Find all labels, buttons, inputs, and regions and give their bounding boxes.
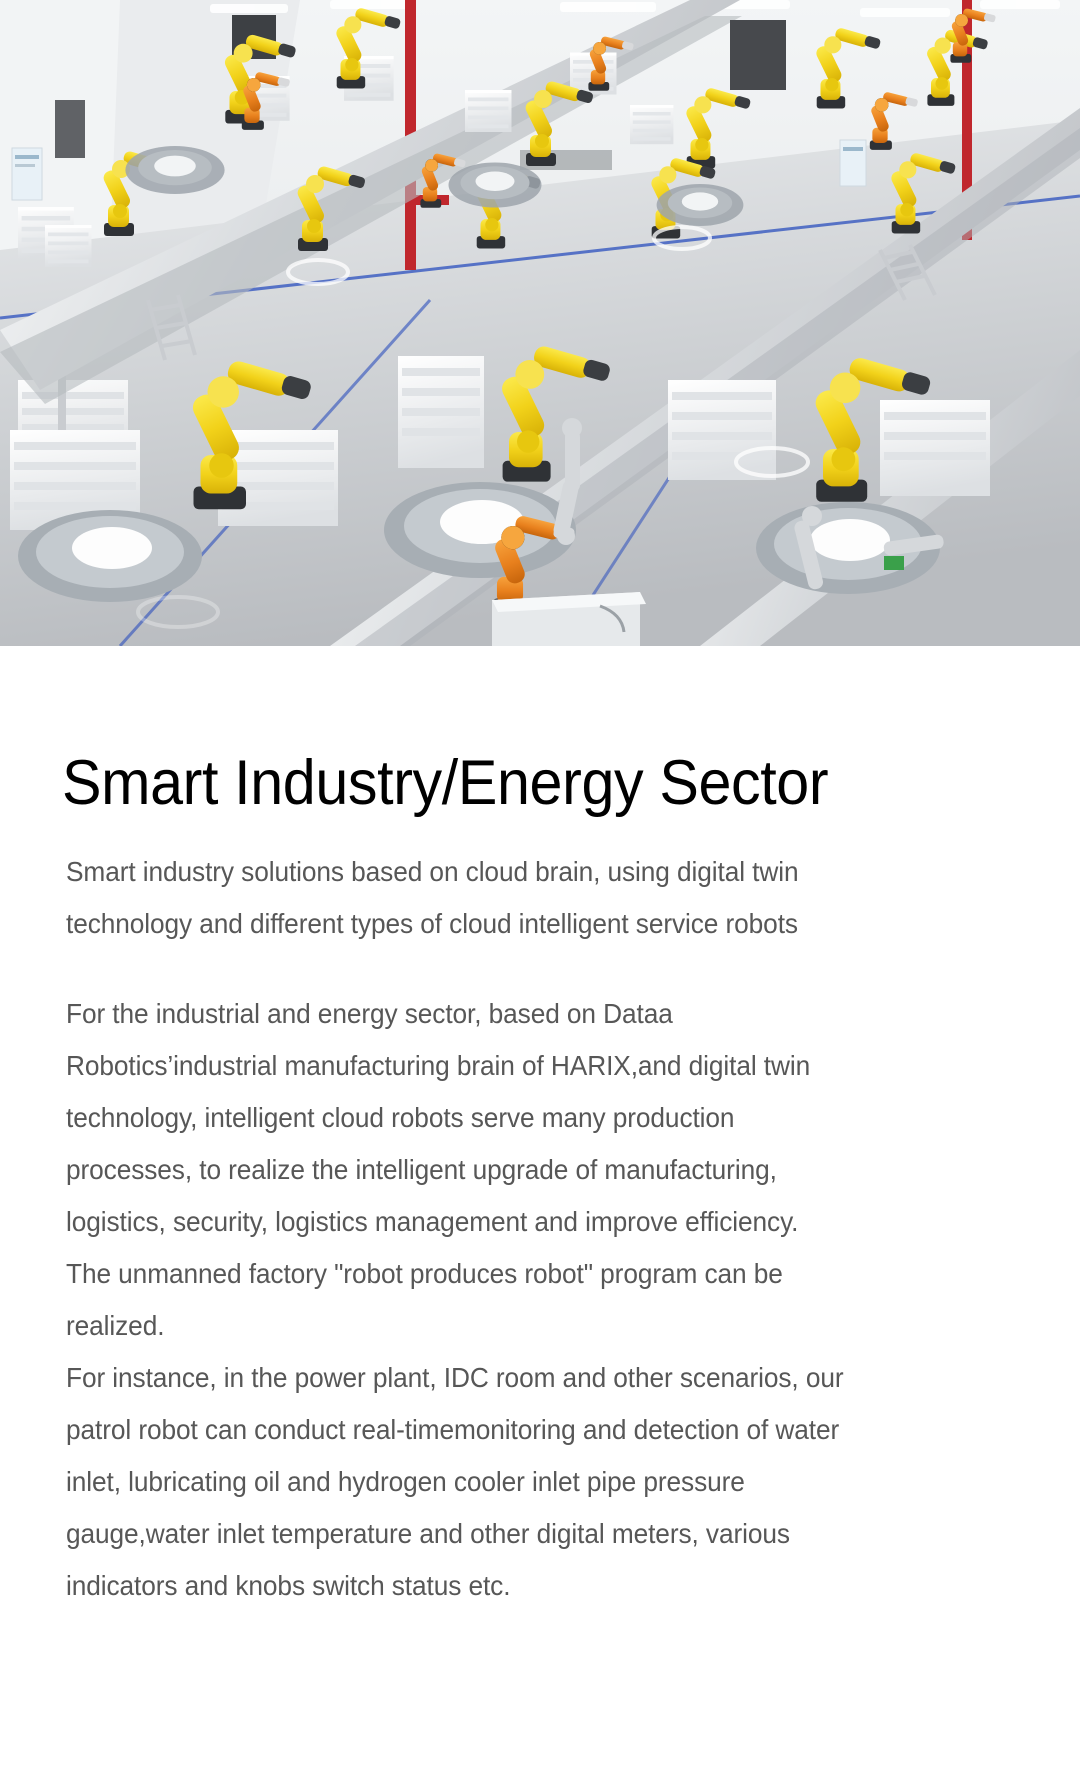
factory-illustration — [0, 0, 1080, 646]
description-paragraph: For the industrial and energy sector, ba… — [66, 988, 859, 1612]
hero-image — [0, 0, 1080, 646]
lead-paragraph: Smart industry solutions based on cloud … — [66, 846, 859, 950]
article-body: Smart industry solutions based on cloud … — [66, 846, 896, 1612]
page-title: Smart Industry/Energy Sector — [62, 746, 828, 820]
